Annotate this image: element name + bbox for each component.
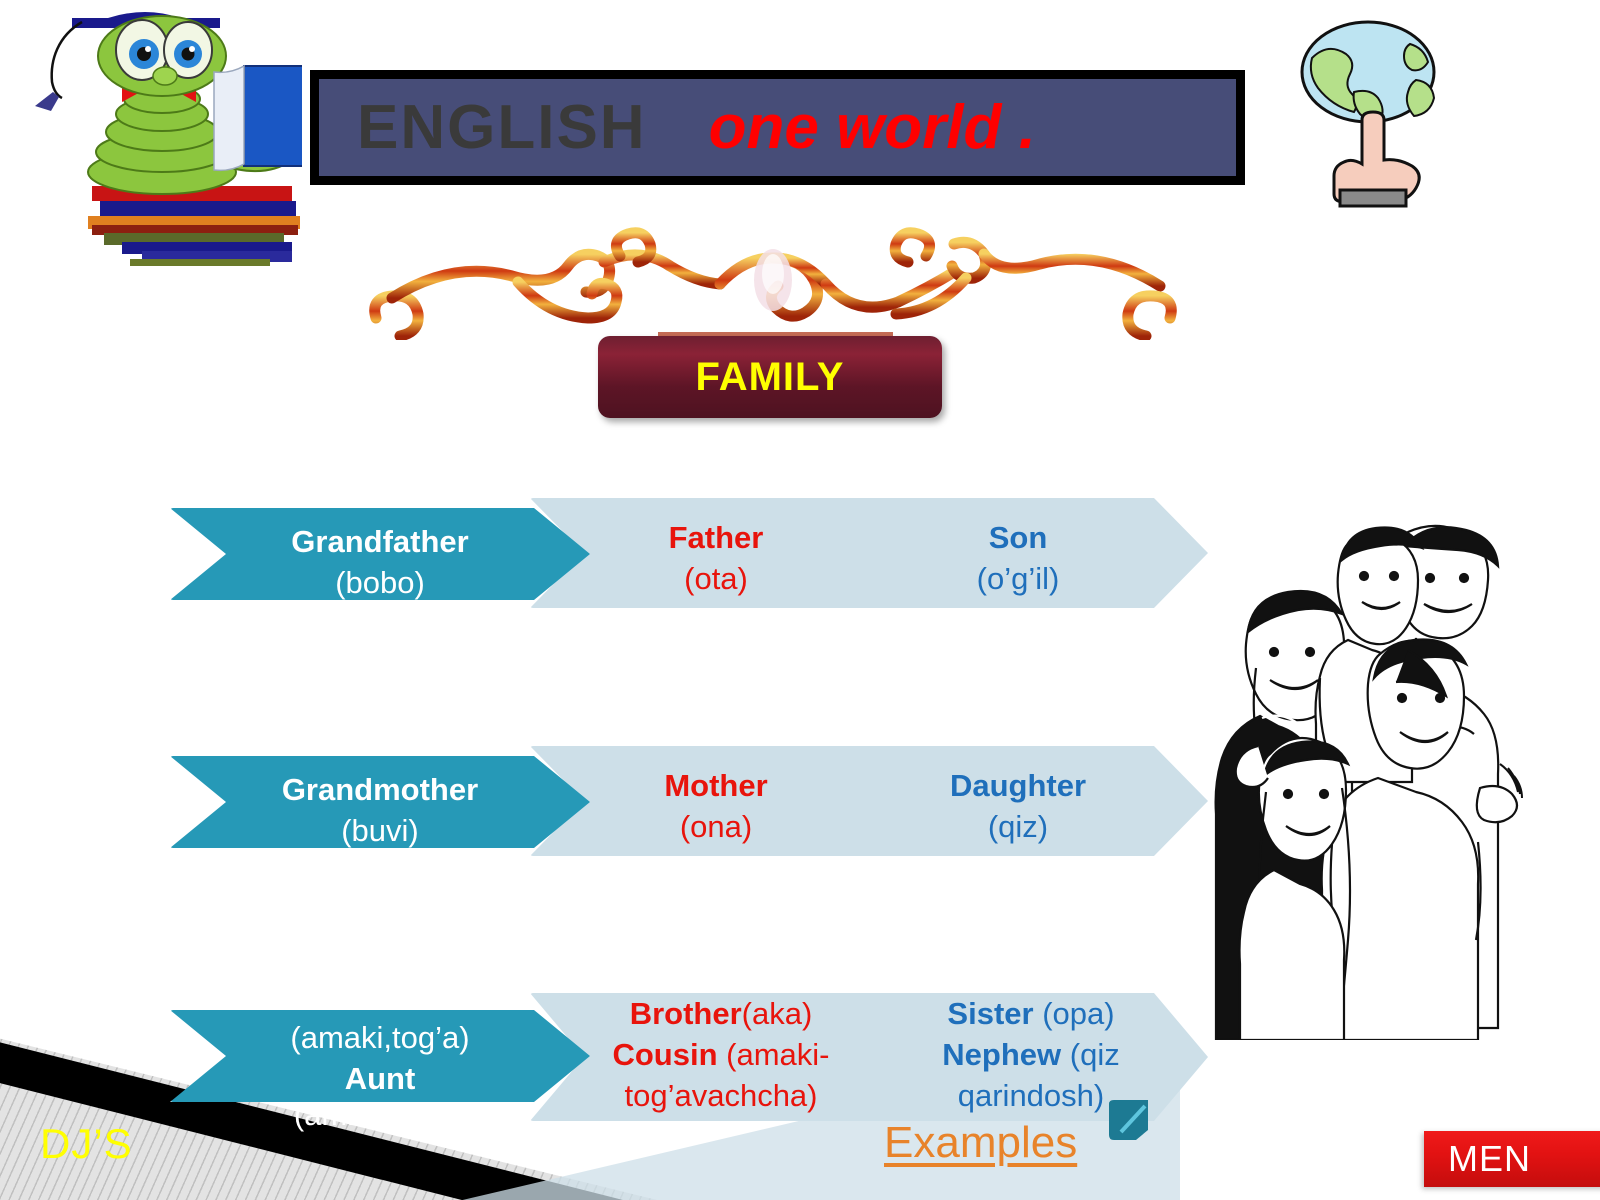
row3-mid-line1-rest: (aka) (742, 996, 813, 1031)
page-subtitle-accent: one world . (709, 97, 1036, 159)
globe-on-finger-icon (1288, 14, 1448, 210)
row2-mid-name: Mother (596, 766, 836, 807)
slide-canvas: ENGLISH one world . FAMILY Grandfather (… (0, 0, 1600, 1200)
row1-mid-name: Father (596, 518, 836, 559)
row2-right-translit: (qiz) (898, 807, 1138, 848)
slide-title-plaque: ENGLISH one world . (310, 70, 1245, 185)
row3-mid-line2-bold: Cousin (612, 1037, 717, 1072)
row3-mid-line3: tog’avachcha) (586, 1076, 856, 1117)
row3-left-translit-bottom-wrap: (amma,xola) (170, 1095, 590, 1136)
row3-right-line1-bold: Sister (947, 996, 1033, 1031)
ornamental-flourish-divider-icon (358, 222, 1188, 340)
row3-right-line1: Sister (opa) (896, 994, 1166, 1035)
examples-link[interactable]: Examples (884, 1118, 1077, 1168)
row3-mid-cell[interactable]: Brother(aka) Cousin (amaki- tog’avachcha… (586, 994, 856, 1117)
row3-right-line2: Nephew (qiz (896, 1035, 1166, 1076)
row1-left-translit: (bobo) (335, 565, 425, 600)
row3-mid-line1-bold: Brother (630, 996, 742, 1031)
row3-teal-chevron[interactable]: (amaki,tog’a) Aunt (170, 1010, 590, 1102)
row1-right-cell[interactable]: Son (o’g’il) (898, 518, 1138, 600)
row1-teal-chevron[interactable]: Grandfather (bobo) (170, 508, 590, 600)
watermark-djs: DJ’S (40, 1120, 133, 1168)
row2-right-name: Daughter (898, 766, 1138, 807)
row1-mid-cell[interactable]: Father (ota) (596, 518, 836, 600)
row1-left-name: Grandfather (291, 524, 468, 559)
row3-right-line2-rest: (qiz (1061, 1037, 1120, 1072)
row3-mid-line1: Brother(aka) (586, 994, 856, 1035)
bookworm-with-graduation-cap-icon (22, 4, 302, 266)
bookmark-ribbon-icon[interactable] (1105, 1098, 1153, 1142)
menu-button[interactable]: MEN (1424, 1131, 1600, 1187)
row3-mid-line2-rest: (amaki- (718, 1037, 830, 1072)
page-title: ENGLISH (357, 97, 647, 159)
row2-left-name: Grandmother (282, 772, 478, 807)
row3-right-line2-bold: Nephew (942, 1037, 1061, 1072)
row2-teal-chevron[interactable]: Grandmother (buvi) (170, 756, 590, 848)
row3-right-line1-rest: (opa) (1034, 996, 1115, 1031)
row1-right-name: Son (898, 518, 1138, 559)
family-section-badge: FAMILY (598, 336, 942, 418)
menu-button-label: MEN (1448, 1138, 1531, 1180)
row2-mid-cell[interactable]: Mother (ona) (596, 766, 836, 848)
family-section-label: FAMILY (696, 355, 845, 400)
row2-left-translit: (buvi) (341, 813, 419, 848)
row2-left-cell: Grandmother (buvi) (170, 770, 590, 852)
row3-left-translit-bottom: (amma,xola) (294, 1097, 466, 1132)
row3-left-name: Aunt (345, 1061, 416, 1096)
row1-left-cell: Grandfather (bobo) (170, 522, 590, 604)
row2-mid-translit: (ona) (596, 807, 836, 848)
row3-left-cell: (amaki,tog’a) Aunt (170, 1018, 590, 1100)
row1-right-translit: (o’g’il) (898, 559, 1138, 600)
family-line-art-portrait (1212, 492, 1542, 1040)
row3-left-translit-top: (amaki,tog’a) (290, 1020, 469, 1055)
row3-mid-line2: Cousin (amaki- (586, 1035, 856, 1076)
row1-mid-translit: (ota) (596, 559, 836, 600)
row2-right-cell[interactable]: Daughter (qiz) (898, 766, 1138, 848)
